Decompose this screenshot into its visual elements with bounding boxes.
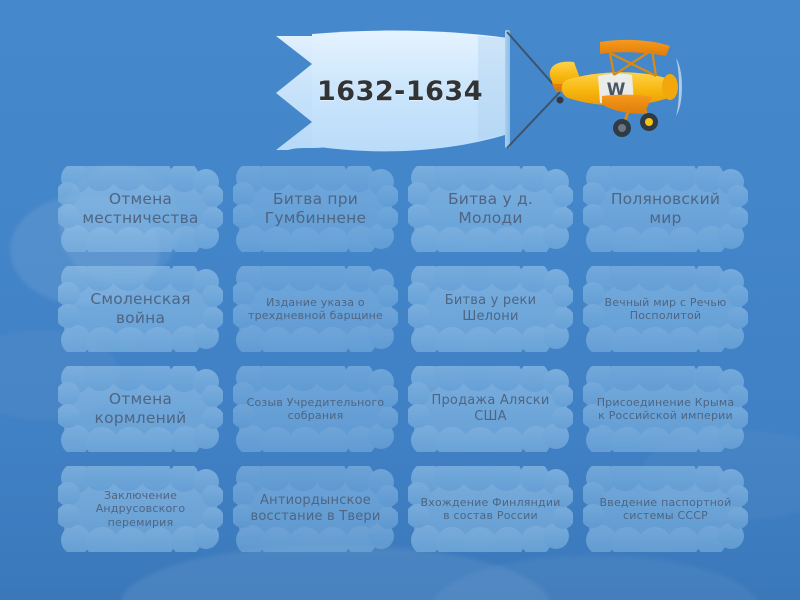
answer-tile[interactable]: Созыв Учредительного собрания	[233, 366, 398, 452]
answer-tile-label: Отмена местничества	[66, 190, 216, 228]
background-cloud-decoration	[430, 555, 760, 600]
answer-tile[interactable]: Продажа Аляски США	[408, 366, 573, 452]
answer-tile-label: Вечный мир с Речью Посполитой	[591, 296, 741, 323]
quiz-canvas: W	[0, 0, 800, 600]
answer-tile-label: Отмена кормлений	[66, 390, 216, 428]
answer-tile[interactable]: Битва у реки Шелони	[408, 266, 573, 352]
answer-tile[interactable]: Битва при Гумбиннене	[233, 166, 398, 252]
answer-tile-label: Поляновский мир	[591, 190, 741, 228]
answer-tile[interactable]: Битва у д. Молоди	[408, 166, 573, 252]
answer-tile[interactable]: Присоединение Крыма к Российской империи	[583, 366, 748, 452]
answer-tile-label: Антиордынское восстание в Твери	[241, 493, 391, 525]
answer-tile-label: Созыв Учредительного собрания	[241, 396, 391, 423]
biplane-icon: W	[550, 40, 682, 137]
answer-tile[interactable]: Заключение Андрусовского перемирия	[58, 466, 223, 552]
answer-tile-label: Введение паспортной системы СССР	[591, 496, 741, 523]
answer-tile-label: Вхождение Финляндии в состав России	[416, 496, 566, 523]
answer-tile[interactable]: Смоленская война	[58, 266, 223, 352]
answer-tile[interactable]: Вечный мир с Речью Посполитой	[583, 266, 748, 352]
tow-rope	[507, 32, 560, 148]
answer-tile[interactable]: Вхождение Финляндии в состав России	[408, 466, 573, 552]
answer-tile-label: Смоленская война	[66, 290, 216, 328]
answer-tile-label: Заключение Андрусовского перемирия	[66, 489, 216, 529]
banner-title: 1632-1634	[300, 76, 500, 107]
answer-tile-label: Битва у д. Молоди	[416, 190, 566, 228]
background-cloud-decoration	[120, 545, 550, 600]
answer-tile[interactable]: Антиордынское восстание в Твери	[233, 466, 398, 552]
answer-tile-label: Присоединение Крыма к Российской империи	[591, 396, 741, 423]
answer-tile[interactable]: Издание указа о трехдневной барщине	[233, 266, 398, 352]
answer-tile[interactable]: Введение паспортной системы СССР	[583, 466, 748, 552]
answer-tile-label: Издание указа о трехдневной барщине	[241, 296, 391, 323]
answer-tile[interactable]: Отмена местничества	[58, 166, 223, 252]
answer-tile[interactable]: Поляновский мир	[583, 166, 748, 252]
answer-tile-label: Битва при Гумбиннене	[241, 190, 391, 228]
banner-pole	[505, 30, 510, 148]
banner-with-plane: W	[0, 0, 800, 160]
answer-tile-label: Битва у реки Шелони	[416, 293, 566, 325]
answer-tile[interactable]: Отмена кормлений	[58, 366, 223, 452]
answer-tile-grid: Отмена местничестваБитва при ГумбинненеБ…	[58, 166, 748, 552]
answer-tile-label: Продажа Аляски США	[416, 393, 566, 425]
